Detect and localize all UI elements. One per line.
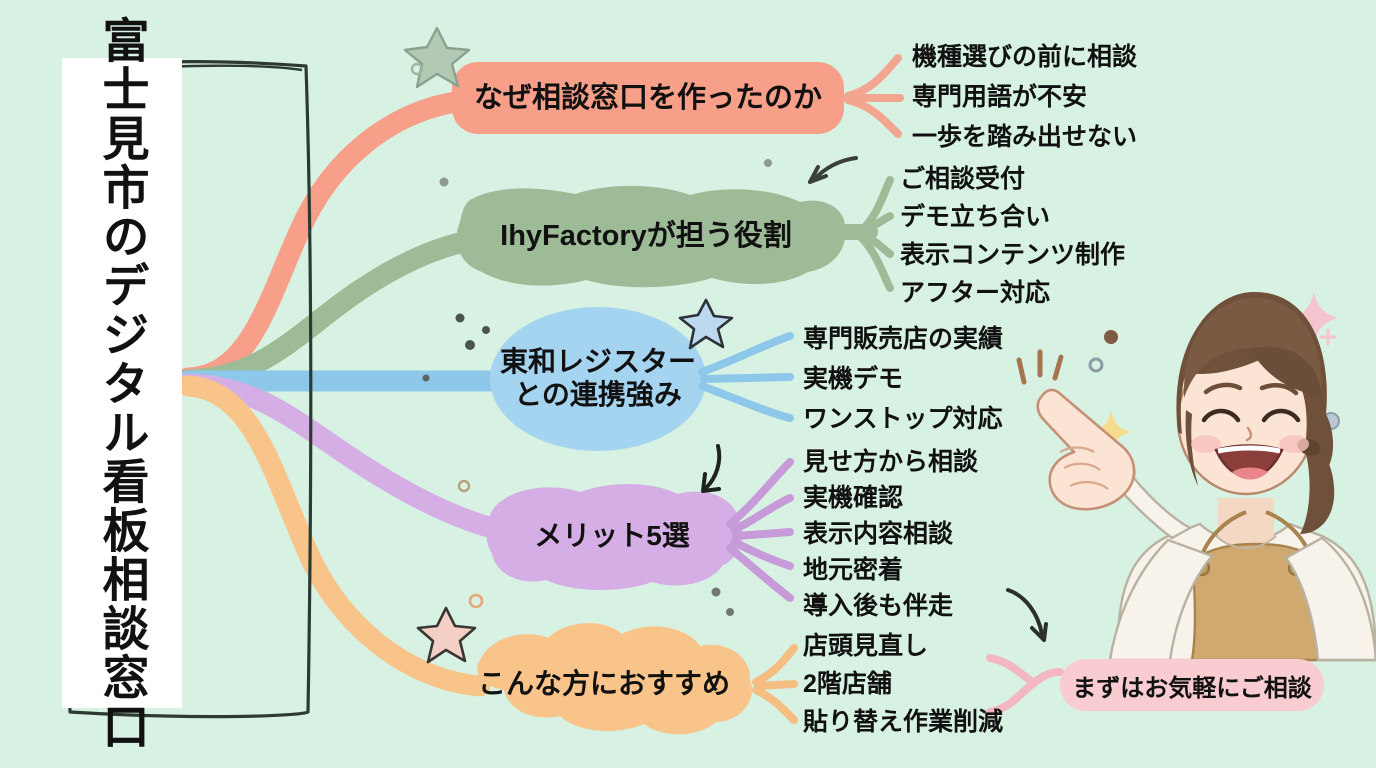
topic-label-why[interactable]: なぜ相談窓口を作ったのか — [452, 62, 844, 134]
topic-label-merit[interactable]: メリット5選 — [490, 500, 734, 572]
leaf-merit-0[interactable]: 見せ方から相談 — [803, 450, 978, 475]
dot-grey-7 — [459, 481, 469, 491]
leaf-partner-0[interactable]: 専門販売店の実績 — [803, 327, 1003, 352]
leaf-why-0[interactable]: 機種選びの前に相談 — [912, 45, 1137, 70]
leaf-merit-4[interactable]: 導入後も伴走 — [803, 594, 953, 619]
leaf-merit-1[interactable]: 実機確認 — [803, 486, 903, 511]
leaf-connector-recommend-1 — [758, 684, 794, 686]
center-title-box: 富士見市のデジタル看板相談窓口 — [62, 58, 182, 708]
center-title-text: 富士見市のデジタル看板相談窓口 — [99, 16, 146, 751]
dot-orange-icon — [470, 595, 482, 607]
dot-brown-right — [1104, 330, 1118, 344]
leaf-role-3[interactable]: アフター対応 — [900, 281, 1050, 306]
leaf-role-1[interactable]: デモ立ち合い — [900, 205, 1050, 230]
arrow-to-cta-icon — [1008, 590, 1042, 634]
leaf-recommend-1[interactable]: 2階店舗 — [803, 672, 892, 697]
leaf-role-2[interactable]: 表示コンテンツ制作 — [900, 243, 1125, 268]
leaf-why-2[interactable]: 一歩を踏み出せない — [912, 125, 1137, 150]
leaf-connector-why-0 — [848, 58, 898, 96]
leaf-connector-why-2 — [848, 100, 898, 134]
dot-grey-6 — [423, 375, 430, 382]
dot-grey-1 — [440, 178, 449, 187]
topic-label-role[interactable]: IhyFactoryが担う役割 — [462, 196, 830, 276]
leaf-connector-partner-1 — [704, 377, 790, 379]
arrow-to-merit-leaves-icon — [706, 446, 719, 488]
sparkle-pink-small-icon — [1321, 330, 1335, 344]
infographic-canvas: 富士見市のデジタル看板相談窓口 なぜ相談窓口を作ったのか IhyFactoryが… — [0, 0, 1376, 768]
leaf-partner-1[interactable]: 実機デモ — [803, 367, 903, 392]
dot-grey-5 — [465, 340, 475, 350]
leaf-merit-3[interactable]: 地元密着 — [803, 558, 903, 583]
dot-grey-8 — [712, 588, 721, 597]
cta-connector — [990, 658, 1060, 712]
leaf-recommend-0[interactable]: 店頭見直し — [803, 634, 928, 659]
leaf-partner-2[interactable]: ワンストップ対応 — [803, 407, 1003, 432]
cta-badge[interactable]: まずはお気軽にご相談 — [1060, 659, 1324, 711]
leaf-merit-2[interactable]: 表示内容相談 — [803, 522, 953, 547]
dot-grey-9 — [726, 608, 734, 616]
leaf-role-0[interactable]: ご相談受付 — [900, 167, 1025, 192]
topic-label-recommend[interactable]: こんな方におすすめ — [452, 650, 756, 718]
leaf-why-1[interactable]: 専門用語が不安 — [912, 85, 1087, 110]
branch-curve-why — [188, 100, 470, 378]
dot-ring-right — [1090, 359, 1102, 371]
leaf-connector-recommend-0 — [756, 648, 794, 682]
leaf-connector-recommend-2 — [756, 690, 794, 720]
topic-label-partner[interactable]: 東和レジスター との連携強み — [482, 330, 714, 426]
leaf-connector-merit-2 — [736, 532, 790, 536]
dot-grey-3 — [456, 314, 465, 323]
emphasis-lines-hand — [1019, 352, 1061, 382]
leaf-recommend-2[interactable]: 貼り替え作業削減 — [803, 710, 1003, 735]
smiling-woman-pointing-illustration — [1038, 292, 1376, 660]
dot-grey-2 — [764, 159, 772, 167]
leaf-connector-partner-2 — [702, 386, 790, 418]
